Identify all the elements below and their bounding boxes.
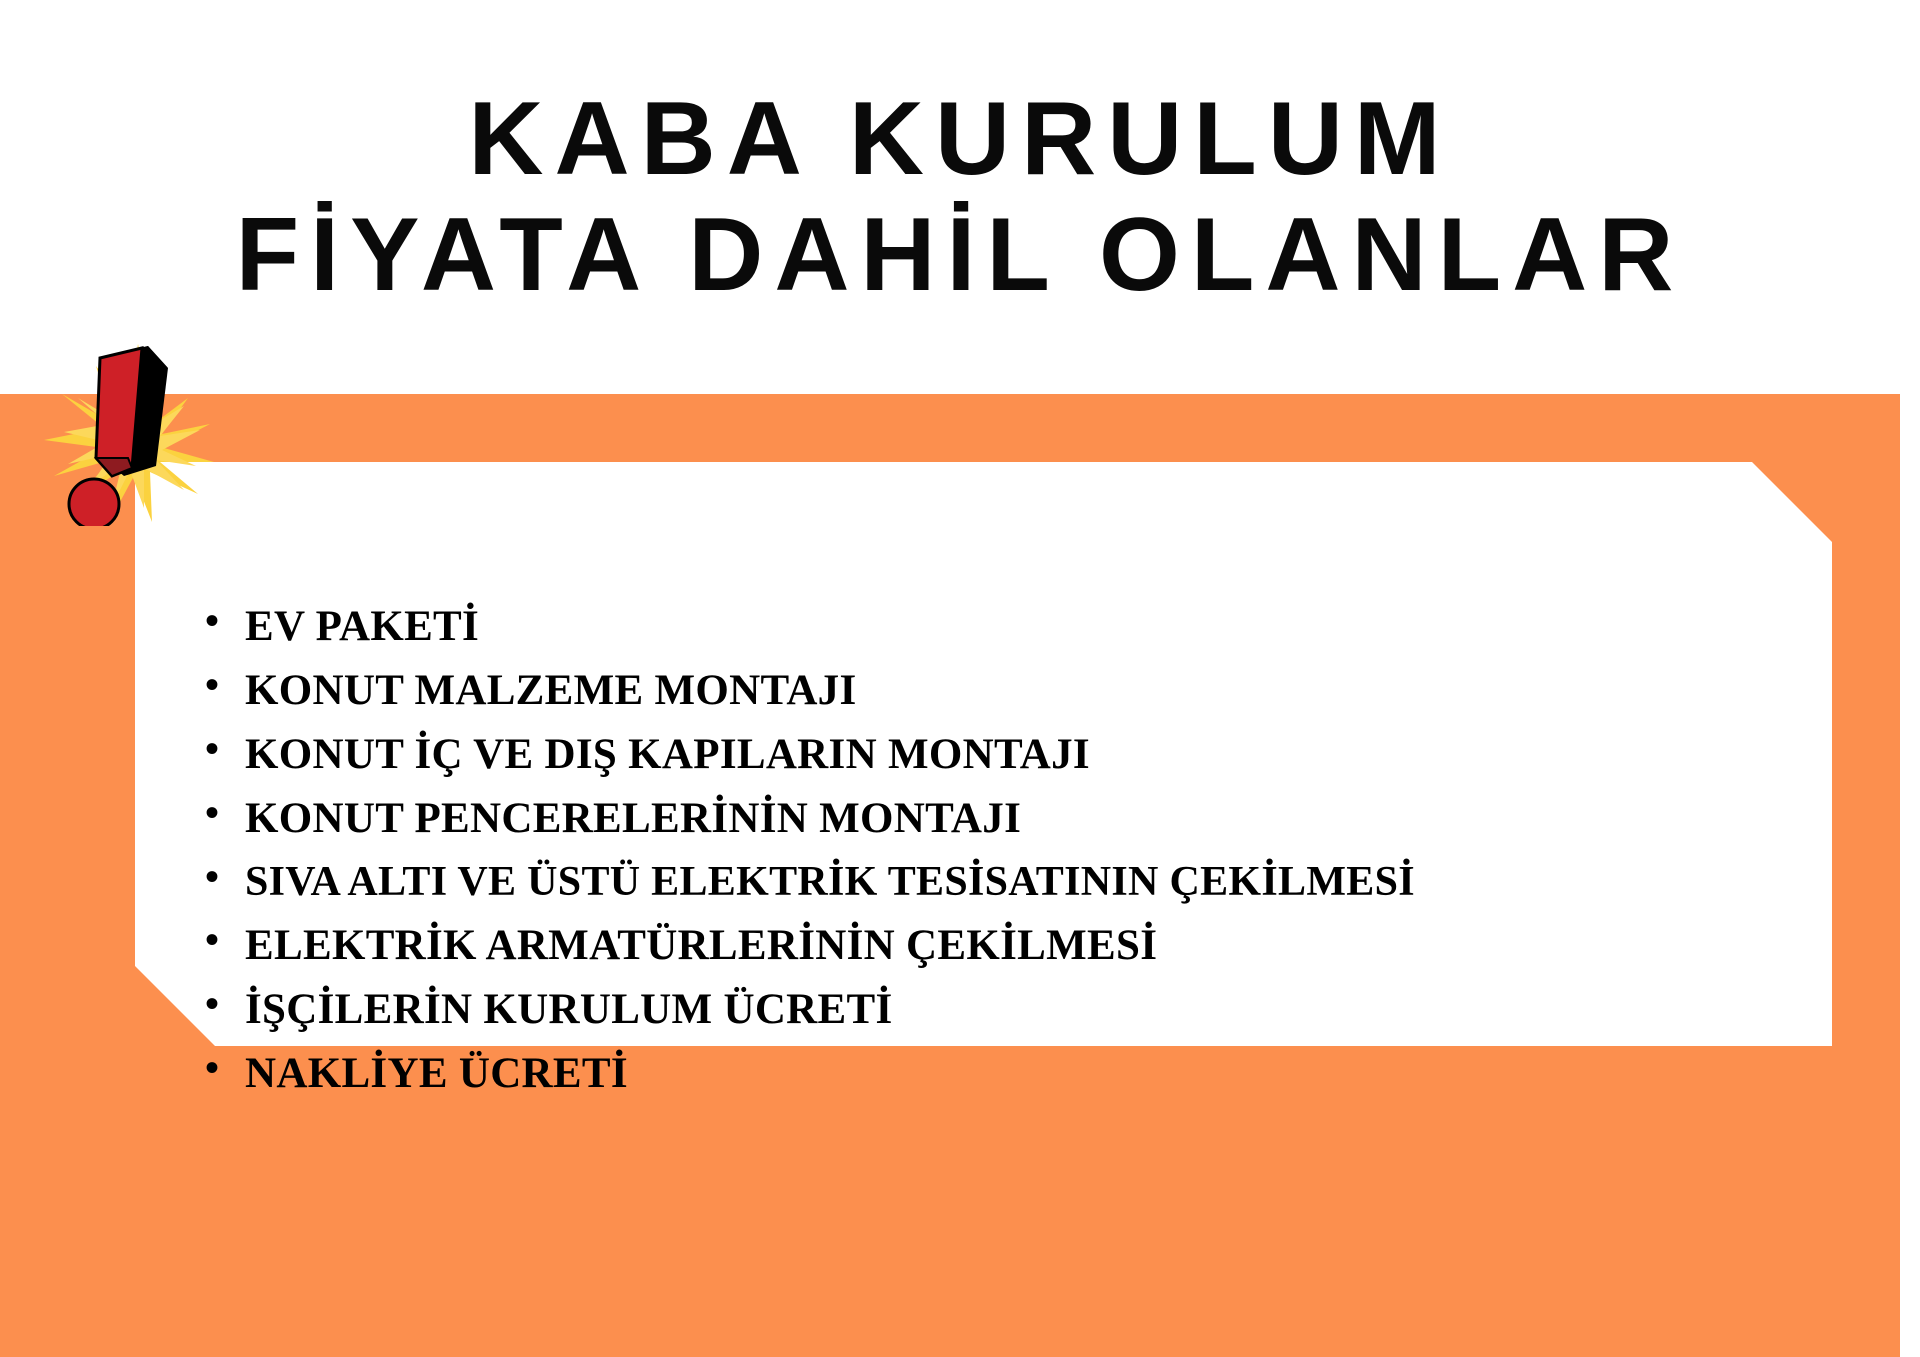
- list-item: KONUT İÇ VE DIŞ KAPILARIN MONTAJI: [205, 733, 1885, 776]
- list-item: KONUT MALZEME MONTAJI: [205, 669, 1885, 712]
- list-item: SIVA ALTI VE ÜSTÜ ELEKTRİK TESİSATININ Ç…: [205, 861, 1885, 903]
- list-item: NAKLİYE ÜCRETİ: [205, 1052, 1885, 1095]
- included-items-list: EV PAKETİ KONUT MALZEME MONTAJI KONUT İÇ…: [205, 605, 1885, 1116]
- list-item: İŞÇİLERİN KURULUM ÜCRETİ: [205, 988, 1885, 1031]
- list-item: ELEKTRİK ARMATÜRLERİNİN ÇEKİLMESİ: [205, 924, 1885, 967]
- page-title-line-2: FİYATA DAHİL OLANLAR: [236, 200, 1685, 310]
- page-title-line-1: KABA KURULUM: [468, 84, 1451, 194]
- list-item: KONUT PENCERELERİNİN MONTAJI: [205, 797, 1885, 840]
- title-block: KABA KURULUM FİYATA DAHİL OLANLAR: [0, 0, 1920, 394]
- list-item: EV PAKETİ: [205, 605, 1885, 648]
